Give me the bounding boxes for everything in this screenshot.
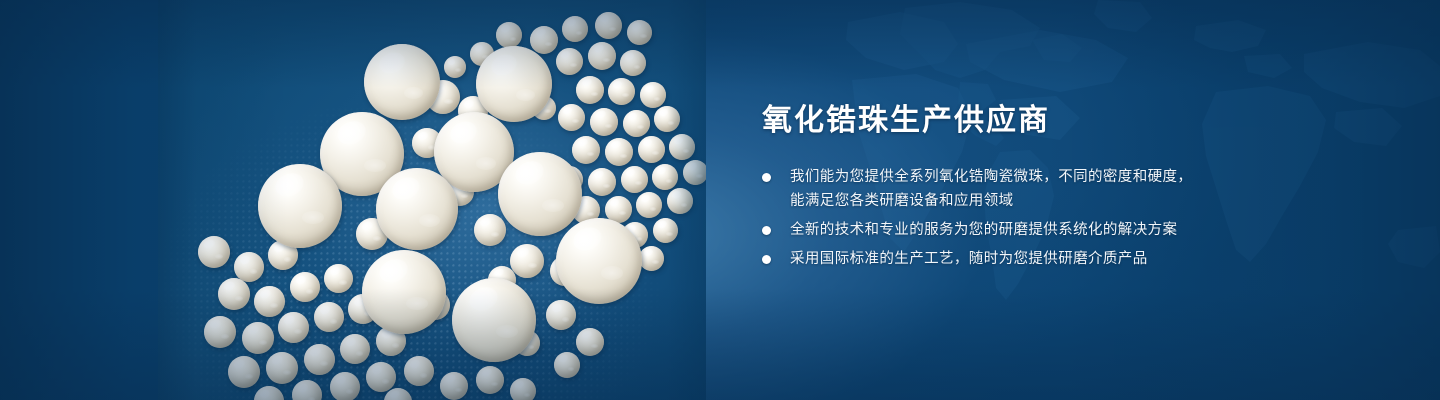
banner-headline: 氧化锆珠生产供应商 [762, 104, 1362, 139]
list-item: 全新的技术和专业的服务为您的研磨提供系统化的解决方案 [762, 218, 1362, 242]
list-item-line-1: 采用国际标准的生产工艺，随时为您提供研磨介质产品 [790, 247, 1362, 271]
feature-list: 我们能为您提供全系列氧化锆陶瓷微珠，不同的密度和硬度， 能满足您各类研磨设备和应… [762, 165, 1362, 271]
hero-banner: 氧化锆珠生产供应商 我们能为您提供全系列氧化锆陶瓷微珠，不同的密度和硬度， 能满… [0, 0, 1440, 400]
list-item-line-1: 全新的技术和专业的服务为您的研磨提供系统化的解决方案 [790, 218, 1362, 242]
list-item-line-1: 我们能为您提供全系列氧化锆陶瓷微珠，不同的密度和硬度， [790, 165, 1362, 189]
banner-copy: 氧化锆珠生产供应商 我们能为您提供全系列氧化锆陶瓷微珠，不同的密度和硬度， 能满… [762, 104, 1362, 276]
bullet-dot-icon [762, 173, 771, 182]
bullet-dot-icon [762, 255, 771, 264]
list-item: 我们能为您提供全系列氧化锆陶瓷微珠，不同的密度和硬度， 能满足您各类研磨设备和应… [762, 165, 1362, 213]
list-item-line-2: 能满足您各类研磨设备和应用领域 [790, 189, 1362, 213]
bullet-dot-icon [762, 226, 771, 235]
list-item: 采用国际标准的生产工艺，随时为您提供研磨介质产品 [762, 247, 1362, 271]
